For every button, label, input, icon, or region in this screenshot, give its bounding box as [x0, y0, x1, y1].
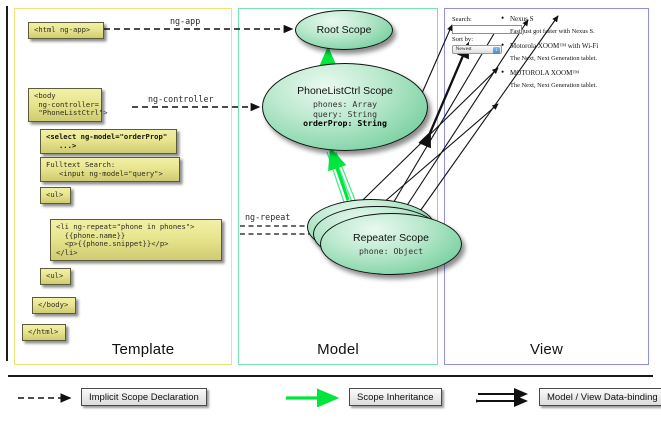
legend-item-scope-inheritance: Scope Inheritance — [286, 386, 442, 408]
scope-root: Root Scope — [295, 10, 393, 50]
scope-repeater: Repeater Scope phone: Object — [320, 213, 462, 275]
phone-name: Nexus S — [500, 15, 645, 24]
phone-name: MOTOROLA XOOM™ — [500, 69, 645, 78]
left-frame-edge — [6, 6, 8, 361]
list-item[interactable]: Nexus S Fast just got faster with Nexus … — [500, 15, 645, 36]
edge-label-ng-app: ng-app — [170, 16, 200, 26]
scope-repeater-props: phone: Object — [359, 247, 423, 256]
legend-item-model-view-data-binding: Model / View Data-binding — [476, 386, 661, 408]
scope-props-plain: phones: Array query: String — [313, 99, 377, 118]
code-box-li-repeat: <li ng-repeat="phone in phones"> {{phone… — [50, 219, 222, 261]
code-box-ul-open: <ul> — [40, 187, 71, 204]
sort-select-value: Newest — [453, 46, 472, 52]
code-box-html-close: </html> — [22, 324, 66, 341]
edge-label-ng-controller: ng-controller — [148, 94, 214, 104]
legend-label-model-view-data-binding: Model / View Data-binding — [539, 388, 661, 406]
phone-snippet: The Next, Next Generation tablet. — [500, 54, 645, 63]
panel-template-label: Template — [15, 341, 231, 358]
scope-phonelistctrl-title: PhoneListCtrl Scope — [297, 85, 393, 97]
sort-select[interactable]: Newest ↕ — [452, 45, 502, 55]
scope-phonelistctrl: PhoneListCtrl Scope phones: Array query:… — [262, 63, 428, 151]
green-arrow-icon — [286, 387, 344, 407]
legend-divider — [8, 375, 653, 377]
scope-repeater-title: Repeater Scope — [353, 232, 429, 244]
phone-list: Nexus S Fast just got faster with Nexus … — [500, 15, 645, 96]
panel-view-label: View — [445, 341, 648, 358]
phone-snippet: Fast just got faster with Nexus S. — [500, 27, 645, 36]
legend: Implicit Scope Declaration Scope Inherit… — [8, 386, 653, 412]
double-arrow-icon — [476, 387, 534, 407]
code-box-search-input: Fulltext Search: <input ng-model="query"… — [40, 157, 180, 182]
code-box-body-close: </body> — [32, 297, 76, 314]
chevron-down-icon: ↕ — [493, 47, 500, 54]
code-box-html-tag: <html ng-app> — [28, 22, 104, 39]
scope-props-bold: orderProp: String — [303, 118, 387, 128]
scope-phonelistctrl-props: phones: Array query: String orderProp: S… — [303, 100, 387, 128]
edge-label-ng-repeat: ng-repeat — [245, 212, 290, 222]
panel-model: Model — [238, 8, 438, 365]
panel-model-label: Model — [239, 341, 437, 358]
legend-label-scope-inheritance: Scope Inheritance — [349, 388, 442, 406]
legend-label-implicit-scope-declaration: Implicit Scope Declaration — [81, 388, 207, 406]
phone-snippet: The Next, Next Generation tablet. — [500, 81, 645, 90]
code-box-select-tag: <select ng-model="orderProp" ...> — [40, 129, 177, 154]
list-item[interactable]: MOTOROLA XOOM™ The Next, Next Generation… — [500, 69, 645, 90]
dashed-arrow-icon — [18, 387, 76, 407]
scope-root-title: Root Scope — [317, 24, 372, 36]
code-box-ul-close: <ul> — [40, 268, 71, 285]
phone-name: Motorola XOOM™ with Wi-Fi — [500, 42, 645, 51]
code-box-body-tag: <body ng-controller= "PhoneListCtrl"> — [28, 88, 102, 122]
list-item[interactable]: Motorola XOOM™ with Wi-Fi The Next, Next… — [500, 42, 645, 63]
legend-item-implicit-scope-declaration: Implicit Scope Declaration — [18, 386, 207, 408]
diagram-root: Template Model View — [0, 0, 661, 425]
